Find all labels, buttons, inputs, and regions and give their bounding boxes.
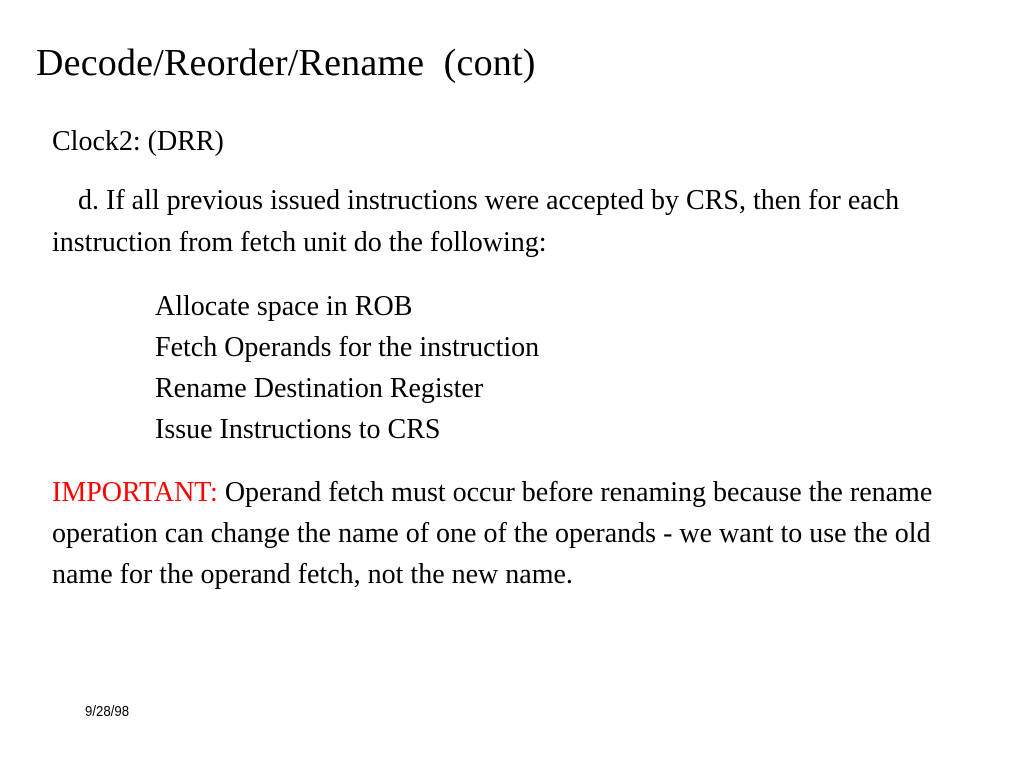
page-title: Decode/Reorder/Rename (cont) bbox=[36, 40, 986, 86]
important-label: IMPORTANT: bbox=[52, 477, 218, 508]
step-d-paragraph: d. If all previous issued instructions w… bbox=[52, 180, 952, 264]
list-item: Fetch Operands for the instruction bbox=[155, 327, 958, 368]
list-item: Rename Destination Register bbox=[155, 368, 958, 409]
slide: Decode/Reorder/Rename (cont) Clock2: (DR… bbox=[0, 0, 1024, 768]
clock-heading: Clock2: (DRR) bbox=[52, 124, 958, 160]
sub-step-list: Allocate space in ROB Fetch Operands for… bbox=[52, 286, 958, 450]
slide-body: Clock2: (DRR) d. If all previous issued … bbox=[52, 124, 958, 595]
list-item: Allocate space in ROB bbox=[155, 286, 958, 327]
important-note: IMPORTANT: Operand fetch must occur befo… bbox=[52, 472, 958, 595]
slide-date: 9/28/98 bbox=[85, 703, 129, 721]
list-item: Issue Instructions to CRS bbox=[155, 409, 958, 450]
